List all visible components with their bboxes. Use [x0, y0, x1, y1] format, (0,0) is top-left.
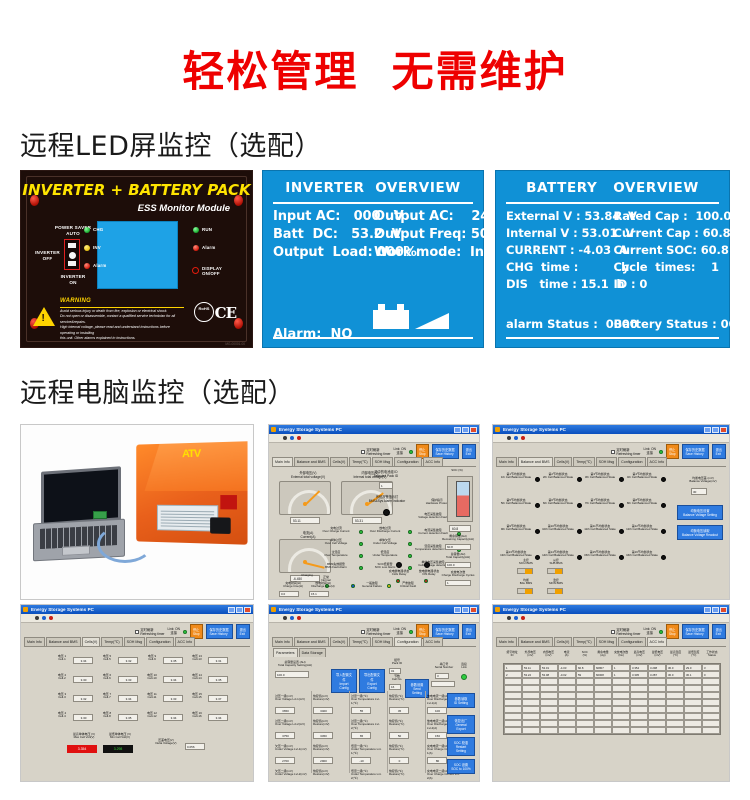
config-label-c3-r3: 恢复值(℃) Restore(℃) — [389, 770, 423, 777]
indicator-label-over-charge-current: 充电过流 Over Charge Current — [315, 527, 357, 534]
window-title: Energy Storage Systems PC — [503, 607, 566, 612]
cell-voltage-label-16: 电压 16 Cell-16 — [188, 712, 206, 719]
battery-overview-grid: External V : 53.84 V Rated Cap : 100.0 A… — [506, 209, 721, 294]
window-controls[interactable] — [454, 607, 477, 613]
table-header: 组号地址 ID外部电压 (mV)内部电压 (mV)电流 (A)SOC (%)剩余… — [503, 651, 721, 657]
charge-cycles-value: 1 — [445, 580, 471, 586]
cell-voltage-value-7: 3.34 — [163, 676, 183, 683]
acc-cell-r6-c9 — [666, 706, 684, 713]
warning-text: Avoid serious injury or death from fire,… — [60, 309, 184, 341]
cell-balance-led-8-icon — [661, 503, 666, 508]
led-monitor-row: INVERTER + BATTERY PACK ESS Monitor Modu… — [0, 170, 750, 350]
config-column-divider — [387, 691, 388, 773]
table-row: Output Load: 000% Work mode: Inverter — [273, 245, 475, 260]
close-button[interactable] — [470, 427, 477, 433]
software-screenshot-grid: ATV Energy Storage Systems PC — [0, 424, 750, 786]
acc-cell-r2-c2 — [540, 678, 558, 685]
cell-voltage-label-9: 电压 3 Cell-3 — [53, 693, 71, 700]
table-row: 153.1153.01-4.0360.86080713.3543.29830.0… — [504, 664, 720, 671]
legend-led-general-failure-icon — [351, 584, 355, 588]
acc-cell-r7-c11 — [702, 713, 720, 720]
tab-underline — [272, 646, 476, 647]
maximize-button[interactable] — [712, 607, 719, 613]
cell-balance-led-9-icon — [535, 529, 540, 534]
inverter-mode-switch[interactable] — [64, 239, 80, 270]
minimize-button[interactable] — [704, 427, 711, 433]
acc-cell-r4-c3 — [558, 692, 576, 699]
balance-voltage-readout-button[interactable]: 均衡电压读取 Balance Voltage Readout — [677, 525, 723, 540]
stop-icon[interactable] — [521, 616, 525, 620]
acc-cell-r8-c10 — [684, 720, 702, 727]
acc-cell-r5-c7 — [630, 699, 648, 706]
maximize-button[interactable] — [236, 607, 243, 613]
battery-current-soc: Current SOC: 60.8 — [614, 243, 722, 257]
min-cell-voltage-value: 3.298 — [103, 745, 133, 753]
acc-cell-r7-c6 — [612, 713, 630, 720]
acc-column-header-7: 最高电压 (mV) — [630, 651, 648, 657]
checkbox-icon[interactable] — [611, 630, 615, 634]
acc-cell-r1-c8: 3.287 — [648, 671, 666, 678]
led-inv-label: INV — [93, 245, 101, 250]
led-alarm2-label: Alarm — [202, 245, 215, 250]
cell-voltage-value-12: 3.37 — [208, 695, 228, 702]
title-bar: Energy Storage Systems PC — [493, 605, 729, 614]
remaining-capacity-value: 60.8 — [445, 544, 471, 550]
checkbox-icon[interactable] — [611, 450, 615, 454]
app-window: Energy Storage Systems PC — [21, 605, 253, 781]
import-config-button[interactable]: 导入配置文件 Import Config — [331, 669, 357, 693]
config-input-c3-r1[interactable]: 50 — [389, 732, 409, 739]
acc-cell-r2-c1 — [522, 678, 540, 685]
tab-underline — [24, 646, 250, 647]
led-run-label: RUN — [202, 227, 212, 232]
module-title: INVERTER + BATTERY PACK — [21, 181, 252, 199]
cell-balance-led-2-icon — [577, 477, 582, 482]
config-input-c0-r1[interactable]: 3750 — [275, 732, 295, 739]
inverter-overview-grid: Input AC: 000 V Output AC: 242 V Batt DC… — [273, 209, 475, 263]
battery-cycle-times: Cycle times: 1 — [614, 260, 722, 274]
window-title: Energy Storage Systems PC — [503, 427, 566, 432]
run-icon[interactable] — [35, 616, 39, 620]
toolbar[interactable] — [269, 434, 479, 443]
total-capacity-setting-input[interactable]: 100.0 — [275, 671, 309, 678]
acc-cell-r7-c8 — [648, 713, 666, 720]
inverter-terminal-block — [210, 517, 231, 534]
acc-cell-r7-c7 — [630, 713, 648, 720]
display-onoff-button-icon[interactable] — [192, 267, 199, 274]
bms-toggle-0[interactable] — [517, 568, 533, 574]
screw-icon — [30, 195, 39, 206]
config-input-c3-r2[interactable]: 0 — [389, 757, 409, 764]
bms-toggle-3[interactable] — [547, 588, 563, 594]
acc-cell-r7-c1 — [522, 713, 540, 720]
refresh-timer-checkbox[interactable]: 定时刷新 Refreshing timer — [611, 627, 641, 636]
config-action-button-0[interactable]: 参数读取 ID Setting — [447, 693, 475, 708]
toolbar[interactable] — [269, 614, 479, 623]
serial-number-input[interactable]: 3 — [435, 673, 449, 679]
window-body: 定时刷新 Refreshing timer Link: ON 连接 停止 Sto… — [493, 443, 729, 596]
checkbox-icon[interactable] — [361, 630, 365, 634]
maximize-button[interactable] — [712, 427, 719, 433]
battery-rated-cap: Rated Cap : 100.0 AH — [614, 209, 722, 223]
acc-cell-r6-c1 — [522, 706, 540, 713]
pause-icon[interactable] — [514, 436, 518, 440]
acc-cell-r7-c10 — [684, 713, 702, 720]
led-inv-icon — [84, 245, 90, 251]
subtab-parameters[interactable]: Parameters — [273, 648, 298, 657]
bms-toggle-1[interactable] — [547, 568, 563, 574]
battery-internal-v: Internal V : 53.01 V — [506, 226, 614, 240]
bms-toggle-2[interactable] — [517, 588, 533, 594]
acc-cell-r4-c0 — [504, 692, 522, 699]
link-status: Link: ON 连接 — [168, 628, 180, 636]
config-input-c2-r2[interactable]: -10 — [351, 757, 371, 764]
switch-indicator-top — [68, 243, 76, 248]
indicator-label-over-cell-voltage: 单体过压 Over Cell Voltage — [315, 539, 357, 546]
table-row — [504, 699, 720, 706]
maximize-button[interactable] — [462, 427, 469, 433]
inverter-spec-label — [157, 505, 218, 532]
battery-external-v: External V : 53.84 V — [506, 209, 614, 223]
switch-knob[interactable] — [69, 252, 76, 259]
run-icon[interactable] — [507, 616, 511, 620]
config-input-c1-r0[interactable]: 3400 — [313, 707, 333, 714]
run-icon[interactable] — [283, 616, 287, 620]
cell-balance-led-10-icon — [577, 529, 582, 534]
acc-cell-r0-c7: 3.354 — [630, 664, 648, 671]
discharge-time-label: 放电时间(H) Discharge time(H) — [309, 582, 337, 589]
refresh-timer-checkbox[interactable]: 定时刷新 Refreshing timer — [135, 627, 165, 636]
window-title: Energy Storage Systems PC — [279, 427, 342, 432]
window-controls[interactable] — [454, 427, 477, 433]
config-input-c3-r0[interactable]: 45 — [389, 707, 409, 714]
page-title: 轻松管理 无需维护 — [0, 38, 750, 99]
window-controls[interactable] — [228, 607, 251, 613]
indicator-led-over-cell-voltage — [359, 542, 363, 546]
led-alarm-label: Alarm — [93, 263, 106, 268]
config-input-c0-r2[interactable]: 2700 — [275, 757, 295, 764]
acc-cell-r3-c8 — [648, 685, 666, 692]
battery-current-cap: Current Cap : 60.8 AH — [614, 226, 722, 240]
close-button[interactable] — [470, 607, 477, 613]
cell-balance-led-6-icon — [577, 503, 582, 508]
acc-cell-r8-c3 — [558, 720, 576, 727]
acc-cell-r2-c6 — [612, 678, 630, 685]
config-label-c2-r3: 低温二级(℃) Under Temperature Lvl-2(℃) — [351, 770, 385, 780]
cell-voltage-label-1: 电压 1 Cell-1 — [53, 655, 71, 662]
table-row — [504, 713, 720, 720]
cell-voltage-value-8: 3.35 — [208, 676, 228, 683]
acc-cell-r0-c0: 1 — [504, 664, 522, 671]
battery-status: Battery Status : 0003 — [614, 317, 722, 331]
minimize-button[interactable] — [704, 607, 711, 613]
stop-icon[interactable] — [49, 616, 53, 620]
laptop-screen — [41, 466, 121, 526]
cell-no-input[interactable]: 16 — [389, 684, 401, 690]
bms-switch-label-1: 从控 SUB BMS — [545, 559, 567, 566]
config-label-c0-r0: 过压一级(mV) Over Voltage Lvl-1(mV) — [275, 695, 309, 702]
cell-balance-label-10: 第10节均衡状态 10th Cell Balanced State — [541, 525, 575, 532]
acc-cell-r8-c8 — [648, 720, 666, 727]
cell-voltage-value-16: 3.34 — [208, 714, 228, 721]
cell-balance-label-7: 第7节均衡状态 7th Cell Balanced State — [583, 499, 617, 506]
indicator-label-over-discharge-current: 放电过流 Over Discharge Current — [364, 527, 406, 534]
config-action-button-2[interactable]: SOC 校准 Restart Setting — [447, 737, 475, 756]
config-label-c1-r0: 恢复值(mV) Restore(mV) — [313, 695, 347, 702]
stop-icon[interactable] — [297, 616, 301, 620]
cell-voltage-label-14: 电压 8 Cell-8 — [98, 712, 116, 719]
battery-status-row: alarm Status : 0000 Battery Status : 000… — [506, 317, 721, 331]
cell-voltage-label-7: 电压 10 Cell-10 — [143, 674, 161, 681]
bms-alarm-indicator-label: 系统报警指示灯 BMS&Sys Alarm Indicator — [367, 495, 407, 503]
app-icon — [495, 427, 500, 432]
link-led-icon — [659, 630, 663, 634]
pause-icon[interactable] — [42, 616, 46, 620]
balance-voltage-label: 均衡电压差 (mV) Balance Voltage(mV) — [683, 477, 723, 484]
config-label-c0-r1: 过压二级(mV) Over Voltage Lvl-2(mV) — [275, 720, 309, 727]
indicator-label-over-temperature: 过温度 Over Temperature — [315, 551, 357, 558]
acc-cell-r2-c8 — [648, 678, 666, 685]
config-label-c1-r2: 恢复值(mV) Restore(mV) — [313, 745, 347, 752]
toolbar[interactable] — [493, 434, 729, 443]
acc-cell-r6-c11 — [702, 706, 720, 713]
acc-cell-r6-c8 — [648, 706, 666, 713]
cell-voltage-value-2: 3.32 — [118, 657, 138, 664]
relay-led-chg-icon — [396, 562, 402, 568]
subtab-data-storage[interactable]: Data Storage — [299, 648, 326, 657]
acc-cell-r4-c9 — [666, 692, 684, 699]
acc-cell-r0-c11: 3 — [702, 664, 720, 671]
selected-pack-label: 选中的电池组 ID Selected Pack ID — [369, 470, 403, 478]
legend-label-critical-fault: 严重故障 Critical Fault — [393, 582, 423, 589]
acc-info-table: 153.1153.01-4.0360.86080713.3543.29830.0… — [503, 663, 721, 735]
window-body: 定时刷新 Refreshing timer Link: ON 连接 停止 Sto… — [493, 623, 729, 778]
inverter-off-label: INVERTER OFF — [34, 250, 61, 261]
title-bar: Energy Storage Systems PC — [21, 605, 253, 614]
minimize-button[interactable] — [228, 607, 235, 613]
minimize-button[interactable] — [454, 607, 461, 613]
cell-balance-label-15: 第15节均衡状态 15th Cell Balanced State — [583, 551, 617, 558]
tab-underline — [496, 646, 726, 647]
table-row — [504, 692, 720, 699]
table-row: 253.2253.08-0.02596000813.3053.28730.030… — [504, 671, 720, 678]
link-status: Link: ON 连接 — [644, 628, 656, 636]
discharge-time-value: 15.1 — [309, 591, 329, 597]
stop-icon[interactable] — [297, 436, 301, 440]
refresh-timer-checkbox[interactable]: 定时刷新 Refreshing timer — [611, 447, 641, 456]
link-led-icon — [183, 630, 187, 634]
send-setting-field[interactable] — [431, 681, 455, 687]
cell-voltage-label-2: 电压 5 Cell-5 — [98, 655, 116, 662]
cell-voltage-value-4: 3.31 — [208, 657, 228, 664]
battery-id: ID : 0 — [614, 277, 722, 291]
config-input-c4-r2[interactable]: 80 — [427, 757, 447, 764]
window-controls[interactable] — [704, 607, 727, 613]
acc-cell-r0-c6: 1 — [612, 664, 630, 671]
config-input-c4-r0[interactable]: 100 — [427, 707, 447, 714]
config-input-c4-r1[interactable]: 150 — [427, 732, 447, 739]
window-title: Energy Storage Systems PC — [279, 607, 342, 612]
export-config-button[interactable]: 导出配置文件 Export Config — [359, 669, 385, 693]
total-capacity-setting-label: 总容量设置 (AH) Total Capacity Setting(AH) — [273, 661, 317, 668]
acc-cell-r9-c5 — [594, 727, 612, 734]
close-button[interactable] — [720, 427, 727, 433]
acc-cell-r6-c10 — [684, 706, 702, 713]
window-controls[interactable] — [704, 427, 727, 433]
cell-voltage-label-15: 电压 12 Cell-12 — [143, 712, 161, 719]
module-code: MG-00001-00 — [225, 342, 245, 346]
balance-voltage-setting-button[interactable]: 均衡电压设置 Balance Voltage Setting — [677, 505, 723, 520]
checkbox-icon[interactable] — [361, 450, 365, 454]
checkbox-icon[interactable] — [135, 630, 139, 634]
acc-cell-r3-c5 — [594, 685, 612, 692]
acc-cell-r1-c2: 53.08 — [540, 671, 558, 678]
gauge-label-external-v: 外部电压(V) External total voltage(V) — [279, 471, 337, 479]
sub-tab-bar[interactable]: Parameters Data Storage — [273, 648, 326, 657]
link-led-icon — [409, 630, 413, 634]
stop-icon[interactable] — [521, 436, 525, 440]
acc-column-header-11: 工作状态 Status — [703, 651, 721, 657]
config-input-c2-r1[interactable]: 65 — [351, 732, 371, 739]
cell-balance-label-4: 第4节均衡状态 4th Cell Balanced State — [625, 473, 659, 480]
toolbar[interactable] — [21, 614, 253, 623]
battery-icon — [373, 304, 409, 329]
acc-cell-r7-c2 — [540, 713, 558, 720]
acc-cell-r8-c7 — [630, 720, 648, 727]
acc-cell-r2-c4 — [576, 678, 594, 685]
app-window: Energy Storage Systems PC — [493, 425, 729, 599]
pause-icon[interactable] — [290, 616, 294, 620]
cell-balance-led-4-icon — [661, 477, 666, 482]
refresh-timer-checkbox[interactable]: 定时刷新 Refreshing timer — [361, 627, 391, 636]
module-subtitle: ESS Monitor Module — [138, 203, 230, 214]
refresh-timer-label: 定时刷新 Refreshing timer — [366, 627, 390, 636]
gauge-external-voltage — [279, 481, 331, 515]
indicator-led-over-charge-current — [359, 530, 363, 534]
config-column-divider — [349, 691, 350, 773]
cell-balance-led-3-icon — [619, 477, 624, 482]
table-row: CHG time : h Cycle times: 1 — [506, 260, 721, 274]
acc-cell-r5-c1 — [522, 699, 540, 706]
config-action-button-4[interactable]: SOC 清零 SOC to 0% — [447, 781, 475, 782]
acc-cell-r8-c5 — [594, 720, 612, 727]
acc-cell-r6-c3 — [558, 706, 576, 713]
config-label-c3-r2: 恢复值(℃) Restore(℃) — [389, 745, 423, 752]
close-button[interactable] — [244, 607, 251, 613]
balance-voltage-input[interactable]: 30 — [691, 488, 707, 495]
readout-internal-voltage: 53.31 — [352, 517, 382, 524]
config-input-c1-r1[interactable]: 3450 — [313, 732, 333, 739]
inverter-input-ac: Input AC: 000 V — [273, 209, 374, 224]
software-window-acc-info: Energy Storage Systems PC — [492, 604, 730, 782]
selected-pack-input[interactable]: 1 — [379, 482, 393, 489]
acc-cell-r0-c10: 29.0 — [684, 664, 702, 671]
link-status: Link: ON 连接 — [394, 628, 406, 636]
table-row: Internal V : 53.01 V Current Cap : 60.8 … — [506, 226, 721, 240]
config-input-c1-r2[interactable]: 2900 — [313, 757, 333, 764]
link-led-icon — [461, 674, 467, 680]
acc-column-header-4: SOC (%) — [576, 651, 594, 657]
acc-cell-r3-c1 — [522, 685, 540, 692]
acc-column-header-10: 最低温度 (℃) — [685, 651, 703, 657]
pack-id-label: 组号 Pack ID — [387, 659, 407, 666]
acc-cell-r9-c8 — [648, 727, 666, 734]
tab-underline — [272, 466, 476, 467]
inverter-output-load: Output Load: 000% — [273, 245, 374, 260]
acc-cell-r1-c5: 60008 — [594, 671, 612, 678]
acc-cell-r4-c5 — [594, 692, 612, 699]
software-window-cells: Energy Storage Systems PC — [20, 604, 254, 782]
table-row — [504, 727, 720, 734]
config-action-button-3[interactable]: SOC 设置 SOC to 100% — [447, 759, 475, 774]
acc-cell-r1-c0: 2 — [504, 671, 522, 678]
pause-icon[interactable] — [290, 436, 294, 440]
bms-alarm-led-icon — [383, 509, 390, 516]
acc-cell-r7-c3 — [558, 713, 576, 720]
app-icon — [271, 607, 276, 612]
close-button[interactable] — [720, 607, 727, 613]
pause-icon[interactable] — [514, 616, 518, 620]
run-icon[interactable] — [507, 436, 511, 440]
toolbar[interactable] — [493, 614, 729, 623]
laptop-touchpad — [62, 545, 90, 555]
inverter-overview-title: INVERTER OVERVIEW — [263, 180, 483, 196]
window-body: 定时刷新 Refreshing timer Link: ON 连接 停止 Sto… — [21, 623, 253, 778]
software-window-balance-bms: Energy Storage Systems PC — [492, 424, 730, 600]
table-row: DIS time : 15.1 h ID : 0 — [506, 277, 721, 291]
acc-cell-r2-c11 — [702, 678, 720, 685]
cell-balance-label-8: 第8节均衡状态 8th Cell Balanced State — [625, 499, 659, 506]
cell-voltage-label-3: 电压 9 Cell-9 — [143, 655, 161, 662]
title-bar: Energy Storage Systems PC — [269, 605, 479, 614]
acc-cell-r1-c7: 3.305 — [630, 671, 648, 678]
acc-column-header-5: 剩余电量 (Ap) — [594, 651, 612, 657]
cell-voltage-value-6: 3.33 — [118, 676, 138, 683]
acc-cell-r5-c4 — [576, 699, 594, 706]
section-heading-pc: 远程电脑监控（选配） — [20, 371, 295, 410]
indicator-led-bms-fault — [359, 566, 363, 570]
software-window-main-info: Energy Storage Systems PC — [268, 424, 480, 600]
acc-column-header-2: 内部电压 (mV) — [539, 651, 557, 657]
acc-cell-r9-c1 — [522, 727, 540, 734]
acc-cell-r8-c2 — [540, 720, 558, 727]
acc-cell-r3-c2 — [540, 685, 558, 692]
acc-cell-r6-c4 — [576, 706, 594, 713]
remaining-capacity-label: 剩余容量(AH) Remaining Capacity(AH) — [441, 535, 475, 542]
run-icon[interactable] — [283, 436, 287, 440]
config-input-c0-r0[interactable]: 3650 — [275, 707, 295, 714]
cell-balance-label-3: 第3节均衡状态 3th Cell Balanced State — [583, 473, 617, 480]
table-row — [504, 678, 720, 685]
cell-balance-led-11-icon — [619, 529, 624, 534]
relay-state-led-dis-icon — [424, 579, 428, 583]
minimize-button[interactable] — [454, 427, 461, 433]
config-action-button-1[interactable]: 恢复出厂 General Export — [447, 715, 475, 734]
soc-tank-label: SOC (%) — [443, 469, 471, 472]
refresh-timer-checkbox[interactable]: 定时刷新 Refreshing timer — [361, 447, 391, 456]
cell-balance-led-7-icon — [619, 503, 624, 508]
acc-cell-r0-c9: 30.0 — [666, 664, 684, 671]
acc-cell-r5-c8 — [648, 699, 666, 706]
acc-cell-r1-c4: 59 — [576, 671, 594, 678]
inverter-alarm: Alarm: NO — [273, 326, 352, 345]
acc-cell-r2-c3 — [558, 678, 576, 685]
charge-time-label: 充电时间(H) Charge time(H) — [279, 582, 307, 589]
maximize-button[interactable] — [462, 607, 469, 613]
table-row — [504, 720, 720, 727]
acc-cell-r7-c5 — [594, 713, 612, 720]
config-input-c2-r0[interactable]: 55 — [351, 707, 371, 714]
